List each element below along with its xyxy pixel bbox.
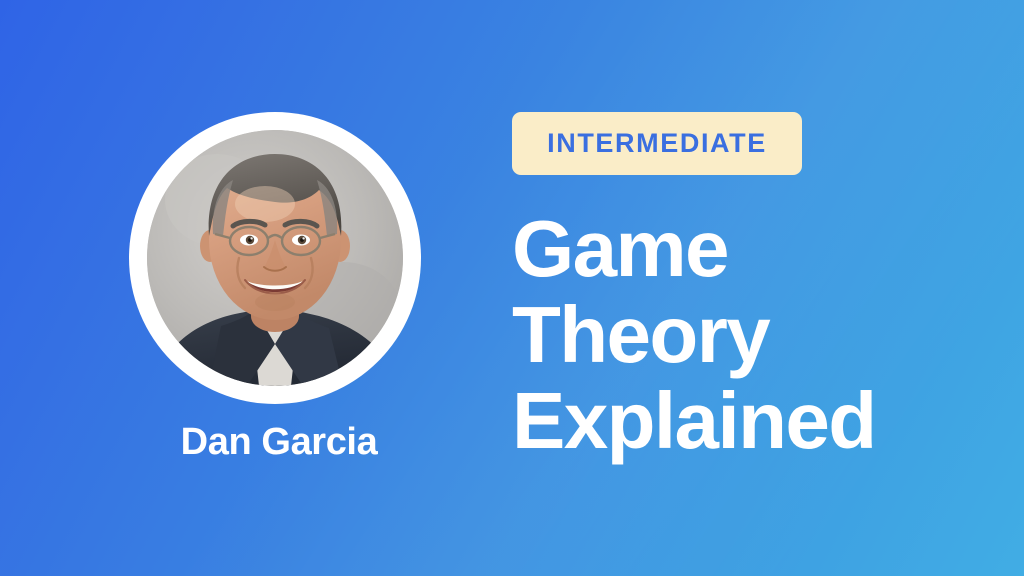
page-title-line: Explained xyxy=(512,378,982,464)
avatar xyxy=(129,112,421,404)
status-badge-level: INTERMEDIATE xyxy=(512,112,802,175)
page-title-line: Game xyxy=(512,206,982,292)
course-info-section: INTERMEDIATE Game Theory Explained xyxy=(512,0,1024,576)
presenter-section: Dan Garcia xyxy=(0,0,470,576)
page-title-line: Theory xyxy=(512,292,982,378)
course-title-card: Dan Garcia INTERMEDIATE Game Theory Expl… xyxy=(0,0,1024,576)
page-title: Game Theory Explained xyxy=(512,206,982,464)
presenter-name: Dan Garcia xyxy=(0,420,558,464)
portrait-photo-icon xyxy=(147,130,403,386)
